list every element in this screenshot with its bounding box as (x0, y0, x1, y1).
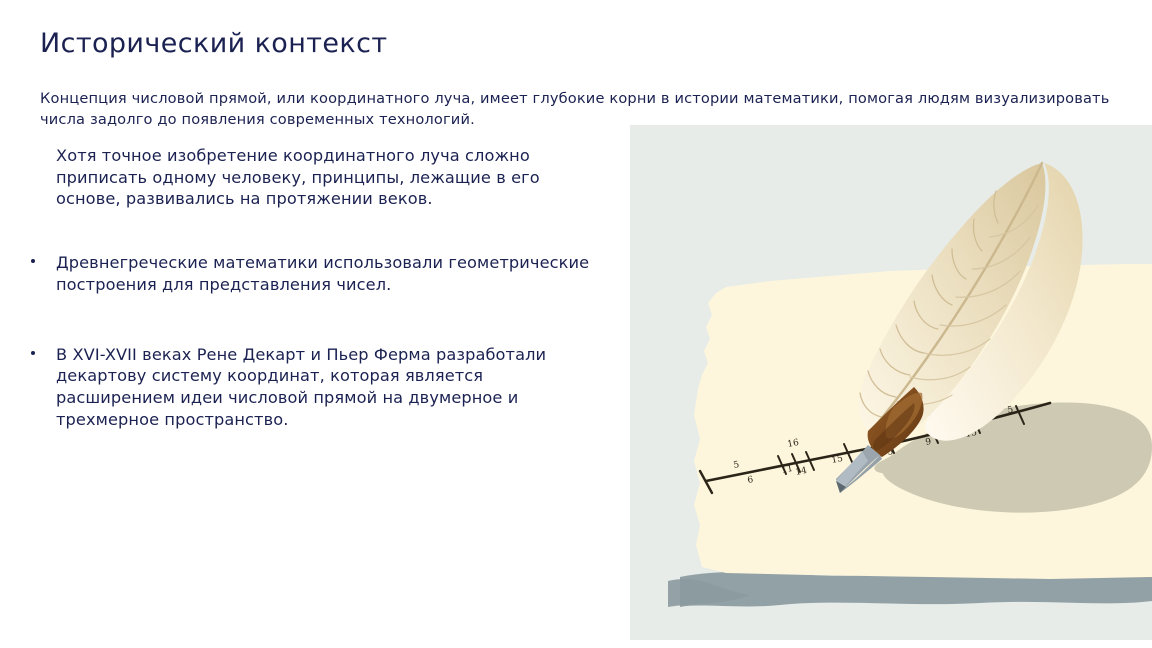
illustration-quill-and-parchment: 5 6 16 11 14 15 18 5 9 9 15 5 (630, 125, 1152, 640)
list-item-text: В XVI-XVII веках Рене Декарт и Пьер Ферм… (56, 344, 594, 431)
bullet-marker-icon (31, 351, 35, 355)
subtitle-paragraph: Концепция числовой прямой, или координат… (40, 88, 1112, 130)
list-item: В XVI-XVII веках Рене Декарт и Пьер Ферм… (24, 344, 594, 431)
illustration-svg: 5 6 16 11 14 15 18 5 9 9 15 5 (630, 125, 1152, 640)
list-item-text: Хотя точное изобретение координатного лу… (56, 145, 594, 210)
list-item: Древнегреческие математики использовали … (24, 252, 594, 295)
slide-canvas: Исторический контекст Концепция числовой… (0, 0, 1152, 648)
bullet-marker-icon (31, 259, 35, 263)
list-item: Хотя точное изобретение координатного лу… (24, 145, 594, 210)
page-title: Исторический контекст (40, 28, 387, 59)
list-item-text: Древнегреческие математики использовали … (56, 252, 594, 295)
bullet-list: Хотя точное изобретение координатного лу… (24, 145, 594, 460)
